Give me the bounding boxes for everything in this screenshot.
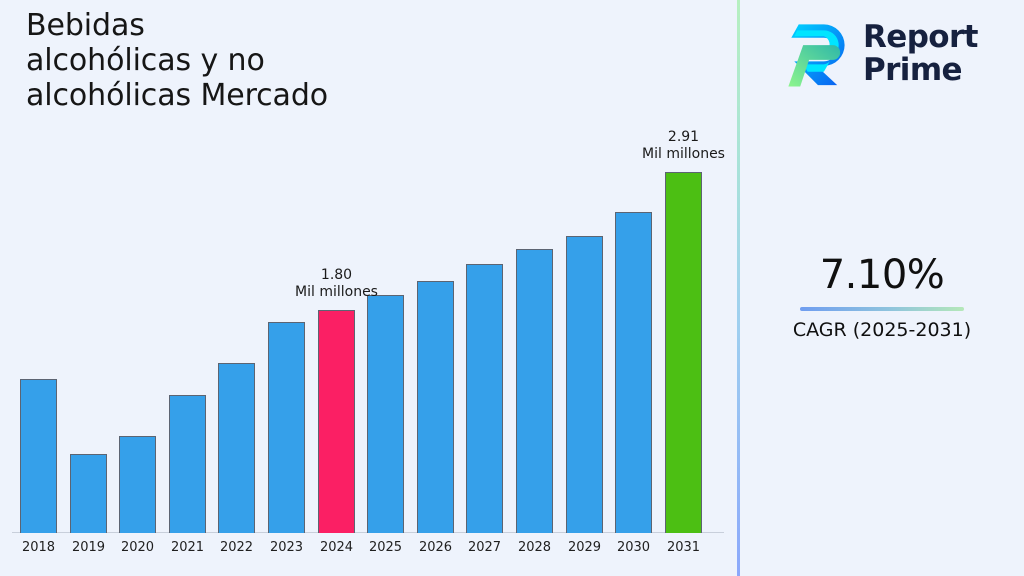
bar-2024 <box>318 310 355 533</box>
logo-wordmark: Report Prime <box>863 21 978 87</box>
cagr-caption: CAGR (2025-2031) <box>740 318 1024 342</box>
chart-panel: Bebidas alcohólicas y no alcohólicas Mer… <box>0 0 738 576</box>
bar-2028 <box>516 249 553 533</box>
bar-2019 <box>70 454 107 533</box>
bar-2018 <box>20 379 57 533</box>
cagr-divider-rule <box>800 307 964 311</box>
bar-2023 <box>268 322 305 533</box>
bar-2030 <box>615 212 652 533</box>
bar-2025 <box>367 295 404 533</box>
cagr-block: 7.10% CAGR (2025-2031) <box>740 252 1024 342</box>
cagr-value: 7.10% <box>740 252 1024 298</box>
bar-2031 <box>665 172 702 533</box>
x-tick-2031: 2031 <box>654 540 714 555</box>
bar-2021 <box>169 395 206 533</box>
report-prime-mark-icon <box>778 17 852 91</box>
bar-2029 <box>566 236 603 533</box>
report-prime-logo: Report Prime <box>778 12 1008 96</box>
bar-2022 <box>218 363 255 533</box>
bar-2020 <box>119 436 156 533</box>
bar-2027 <box>466 264 503 533</box>
branding-panel: Report Prime 7.10% CAGR (2025-2031) <box>740 0 1024 576</box>
chart-page: Bebidas alcohólicas y no alcohólicas Mer… <box>0 0 1024 576</box>
plot-area: 1.80 Mil millones2.91 Mil millones 20182… <box>0 0 738 576</box>
bar-value-label-2024: 1.80 Mil millones <box>257 267 417 301</box>
bar-2026 <box>417 281 454 533</box>
